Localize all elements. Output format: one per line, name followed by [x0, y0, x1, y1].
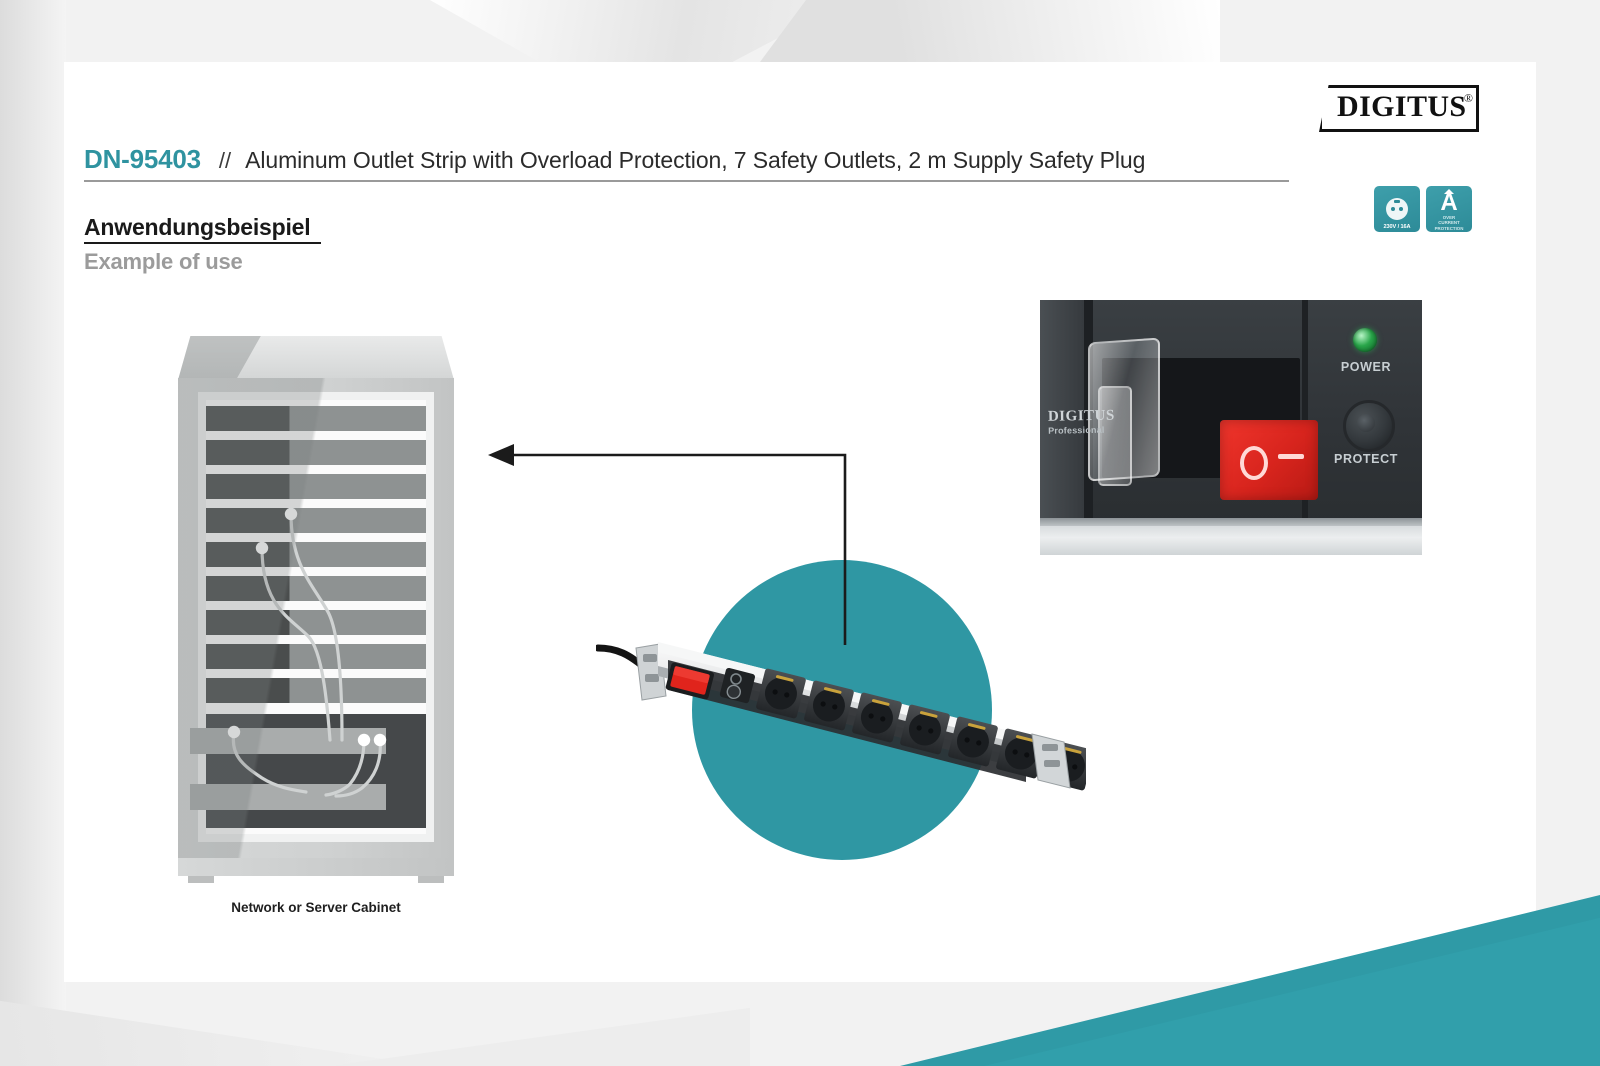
logo-wordmark: DIGITUS	[1337, 90, 1467, 124]
callout-arrow	[480, 420, 900, 670]
socket-earth-clip-icon	[1394, 200, 1400, 203]
server-cabinet-illustration	[178, 336, 454, 882]
photo-rocker-switch	[1220, 420, 1318, 500]
photo-switch-cover-latch	[1098, 386, 1132, 486]
cabinet-patch-cables	[178, 336, 454, 882]
badge-overcurrent-protection: A OVER CURRENT PROTECTION	[1426, 186, 1472, 232]
cabinet-base	[178, 858, 454, 876]
power-led-icon	[1353, 328, 1377, 352]
product-detail-photo: DIGITUS Professional POWER PROTECT	[1040, 300, 1422, 555]
spec-badges: 230V / 16A A OVER CURRENT PROTECTION	[1374, 186, 1472, 232]
photo-protect-label: PROTECT	[1328, 452, 1404, 466]
photo-brand-marking: DIGITUS Professional	[1048, 407, 1138, 436]
section-heading-underline	[84, 242, 321, 244]
circuit-breaker-knob-icon	[1343, 400, 1395, 452]
bg-triangle-bottom-mid	[330, 978, 750, 1066]
photo-brand-line1: DIGITUS	[1048, 407, 1138, 426]
title-divider	[84, 180, 1289, 182]
registered-trademark-icon: ®	[1464, 91, 1473, 106]
bg-triangle-top-right	[760, 0, 1220, 62]
photo-brand-line2: Professional	[1048, 424, 1138, 436]
product-sku: DN-95403	[84, 144, 201, 175]
badge-protection-line3: PROTECTION	[1426, 226, 1472, 232]
product-title-text: Aluminum Outlet Strip with Overload Prot…	[245, 147, 1145, 174]
ampere-letter-icon: A	[1426, 191, 1472, 215]
badge-voltage-current: 230V / 16A	[1374, 186, 1420, 232]
badge-protection-label: OVER CURRENT PROTECTION	[1426, 215, 1472, 232]
switch-off-symbol-icon	[1240, 446, 1268, 480]
section-heading-en: Example of use	[84, 249, 243, 275]
bg-left-gradient	[0, 0, 66, 1066]
cabinet-foot	[188, 876, 214, 883]
section-heading-de: Anwendungsbeispiel	[84, 214, 310, 241]
pdu-bracket-right	[1032, 734, 1070, 788]
page-title: DN-95403 // Aluminum Outlet Strip with O…	[84, 144, 1289, 175]
switch-on-symbol-icon	[1278, 454, 1304, 459]
badge-voltage-label: 230V / 16A	[1374, 224, 1420, 230]
digitus-logo: DIGITUS ®	[1319, 85, 1479, 132]
title-separator: //	[219, 148, 231, 174]
cabinet-foot	[418, 876, 444, 883]
photo-power-label: POWER	[1328, 360, 1404, 374]
photo-surface	[1040, 526, 1422, 555]
cabinet-caption: Network or Server Cabinet	[178, 900, 454, 915]
